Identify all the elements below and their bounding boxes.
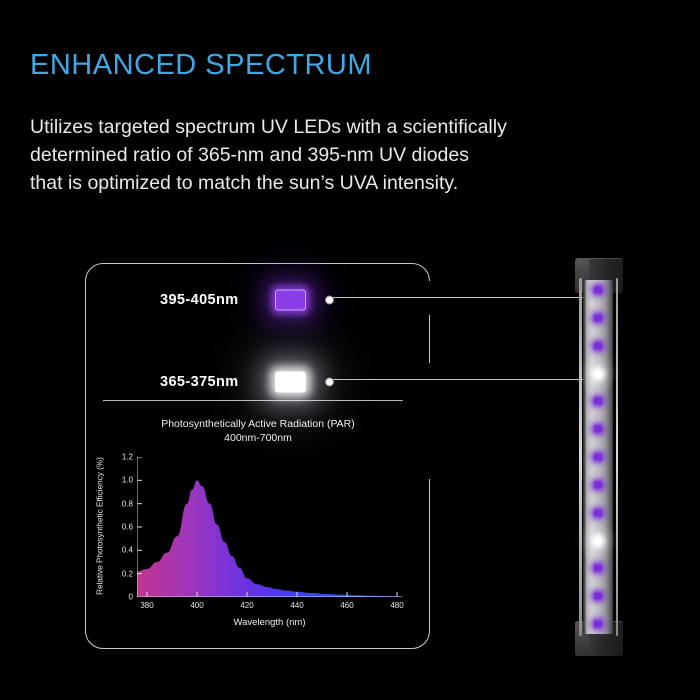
led-swatch-violet-icon xyxy=(275,290,306,311)
chart-x-tick-label: 400 xyxy=(190,601,203,610)
led-diode-white-icon xyxy=(594,370,602,378)
chart-y-axis-title-wrap: Relative Photosynthetic Efficiency (%) xyxy=(93,451,107,601)
led-diode-violet-icon xyxy=(594,621,602,628)
chart-y-tick-label: 1.0 xyxy=(122,476,133,485)
chart-y-tick-label: 0.8 xyxy=(122,499,133,508)
led-diode-violet-icon xyxy=(594,454,602,461)
led-diode-violet-icon xyxy=(594,426,602,433)
led-diode-violet-icon xyxy=(594,398,602,405)
led-diode-violet-icon xyxy=(594,481,602,488)
description-line-2: determined ratio of 365-nm and 395-nm UV… xyxy=(30,141,650,169)
chart-plot-area: 00.20.40.60.81.01.2 380400420440460480 xyxy=(137,457,402,597)
connector-node-white-icon xyxy=(325,378,334,387)
chart-y-tick-label: 0.6 xyxy=(122,523,133,532)
chart-y-tick-label: 0.4 xyxy=(122,546,133,555)
led-diode-white-icon xyxy=(594,537,602,545)
chart-x-tick-label: 440 xyxy=(290,601,303,610)
chart-x-tick-label: 420 xyxy=(240,601,253,610)
chart-x-axis-title: Wavelength (nm) xyxy=(137,617,402,628)
par-chart: Photosynthetically Active Radiation (PAR… xyxy=(93,411,423,639)
chart-title: Photosynthetically Active Radiation (PAR… xyxy=(93,417,423,445)
uv-led-bar xyxy=(570,258,632,656)
chart-title-line-1: Photosynthetically Active Radiation (PAR… xyxy=(161,418,355,430)
led-diode-violet-icon xyxy=(594,565,602,572)
description-line-3: that is optimized to match the sun’s UVA… xyxy=(30,169,650,197)
chart-y-tick-label: 0 xyxy=(129,593,133,602)
description-line-1: Utilizes targeted spectrum UV LEDs with … xyxy=(30,113,650,141)
spectrum-infographic: ENHANCED SPECTRUM Utilizes targeted spec… xyxy=(0,0,700,700)
panel-border-gap-bottom xyxy=(426,363,433,479)
connector-line-white xyxy=(332,379,588,380)
led-diode-violet-icon xyxy=(594,342,602,349)
legend-label: 365-375nm xyxy=(160,374,239,390)
legend-label: 395-405nm xyxy=(160,292,239,308)
chart-y-tick-label: 0.2 xyxy=(122,569,133,578)
chart-x-tick-label: 480 xyxy=(390,601,403,610)
chart-x-tick-label: 380 xyxy=(140,601,153,610)
led-swatch-white-icon xyxy=(275,372,306,393)
led-diode-violet-icon xyxy=(594,593,602,600)
led-bar-rail-right xyxy=(616,278,619,636)
chart-y-tick-label: 1.2 xyxy=(122,453,133,462)
led-diode-violet-icon xyxy=(594,314,602,321)
diagram-panel: 395-405nm 365-375nm Photosynthetically A… xyxy=(85,263,430,649)
page-title: ENHANCED SPECTRUM xyxy=(30,49,372,82)
chart-curve-svg xyxy=(137,457,402,597)
description-paragraph: Utilizes targeted spectrum UV LEDs with … xyxy=(30,113,650,197)
chart-subtitle: 400nm-700nm xyxy=(93,431,423,445)
connector-line-violet xyxy=(332,297,588,298)
connector-node-violet-icon xyxy=(325,296,334,305)
panel-border-gap-top xyxy=(426,281,433,315)
led-bar-rail-left xyxy=(579,278,582,636)
chart-y-axis-title: Relative Photosynthetic Efficiency (%) xyxy=(96,457,105,595)
panel-divider xyxy=(103,400,403,401)
chart-x-tick-label: 460 xyxy=(340,601,353,610)
led-diode-violet-icon xyxy=(594,287,602,294)
led-bar-housing xyxy=(583,280,613,634)
led-diode-violet-icon xyxy=(594,509,602,516)
